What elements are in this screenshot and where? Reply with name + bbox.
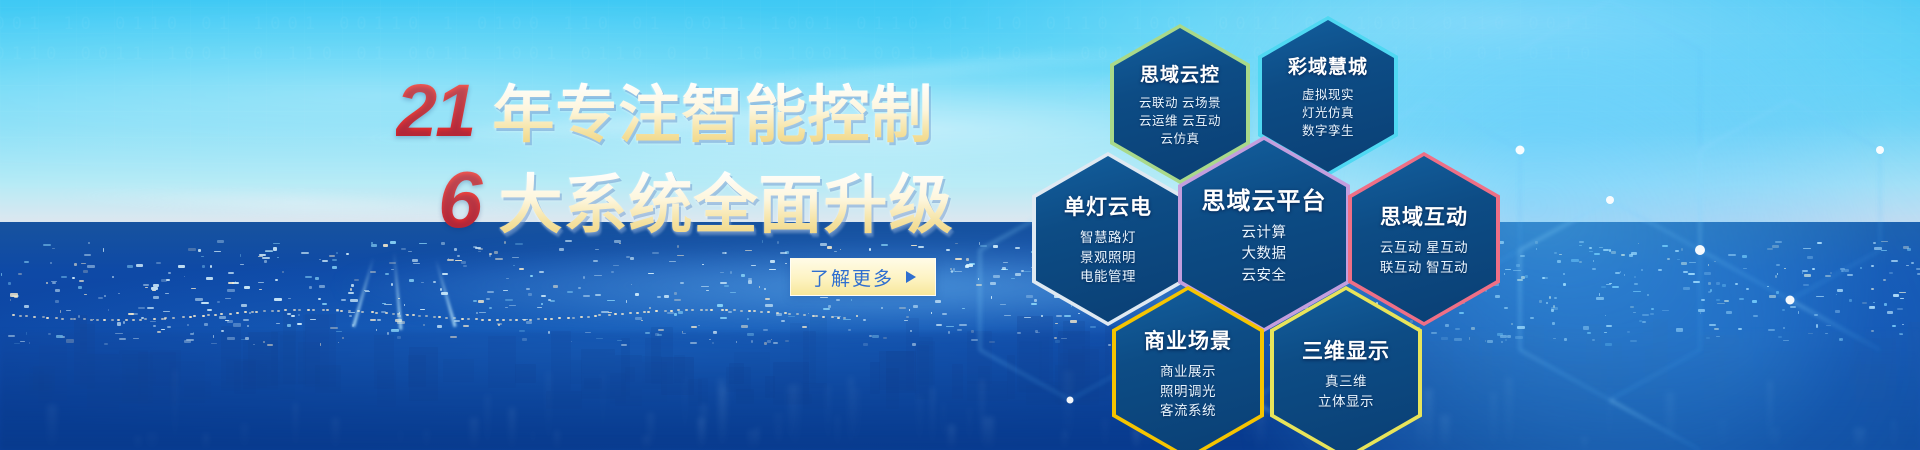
city-light: [1907, 248, 1911, 251]
city-light: [1633, 291, 1641, 292]
city-light: [1634, 283, 1637, 286]
city-light: [1579, 245, 1582, 246]
city-light: [1871, 265, 1874, 267]
city-light: [1900, 298, 1904, 299]
city-light: [1688, 273, 1695, 275]
city-light: [1742, 255, 1748, 258]
hex-line: 云计算: [1202, 223, 1327, 244]
city-light: [1735, 283, 1739, 285]
reflection-streak: [1893, 421, 1895, 450]
hex-line: 云安全: [1202, 266, 1327, 287]
hex-line: 商业展示: [1144, 362, 1232, 382]
city-light: [1593, 260, 1594, 263]
city-light: [1700, 312, 1701, 313]
city-light: [1916, 268, 1920, 270]
city-light: [1583, 326, 1588, 329]
city-light: [1883, 279, 1886, 281]
city-light: [1804, 274, 1811, 277]
city-light: [1893, 294, 1899, 297]
city-light: [1881, 250, 1887, 252]
city-light: [1609, 249, 1611, 252]
city-light: [1802, 270, 1808, 272]
hex-line: 虚拟现实: [1288, 86, 1368, 104]
city-light: [1840, 268, 1846, 270]
city-light: [1716, 282, 1720, 285]
hex-line: 智慧路灯: [1064, 228, 1152, 248]
city-light: [1902, 324, 1903, 325]
headline-line-2: 6大系统全面升级: [438, 160, 954, 240]
city-light: [1849, 299, 1852, 302]
headline-line-1: 21年专注智能控制: [396, 74, 933, 148]
city-light: [1594, 253, 1599, 255]
hex-line: 客流系统: [1144, 401, 1232, 421]
hex-title: 思域云平台: [1202, 181, 1327, 216]
promo-banner: 01001 10 0110 01 1001 00110 1 0100 110 0…: [0, 0, 1920, 450]
hex-line: 照明调光: [1144, 382, 1232, 402]
hex-line: 灯光仿真: [1288, 104, 1368, 122]
city-light: [1683, 271, 1688, 274]
city-light: [1825, 275, 1831, 277]
reflection-streak: [1607, 389, 1613, 450]
city-light: [1816, 324, 1818, 327]
city-light: [1837, 289, 1844, 292]
learn-more-label: 了解更多: [810, 264, 894, 291]
city-light: [1790, 306, 1797, 308]
city-light: [1860, 267, 1861, 269]
city-light: [1884, 303, 1887, 306]
city-light: [993, 245, 998, 247]
city-light: [1775, 275, 1776, 278]
reflection-streak: [1582, 437, 1587, 450]
headline-number-21: 21: [396, 69, 478, 152]
city-light: [1708, 264, 1710, 266]
city-light: [1869, 306, 1875, 309]
city-light: [1784, 268, 1786, 269]
hex-title: 商业场景: [1144, 325, 1232, 355]
city-light: [1563, 273, 1565, 275]
hex-line: 云运维 云互动: [1139, 112, 1221, 130]
city-light: [1769, 295, 1776, 298]
city-light: [1768, 329, 1775, 332]
city-light: [1612, 286, 1619, 288]
city-light: [1683, 287, 1690, 290]
city-light: [1714, 328, 1719, 330]
headline-number-6: 6: [438, 155, 485, 244]
city-light: [1681, 262, 1687, 265]
city-light: [1634, 276, 1635, 279]
city-light: [1807, 256, 1813, 259]
reflection-streak: [983, 417, 994, 450]
reflection-streak: [1854, 428, 1865, 450]
city-light: [1728, 254, 1735, 256]
city-light: [1606, 284, 1611, 285]
reflection-streak: [1768, 381, 1772, 450]
reflection-streak: [1666, 392, 1674, 450]
hex-line: 云联动 云场景: [1139, 94, 1221, 112]
city-light: [1708, 282, 1711, 285]
reflection-streak: [1718, 419, 1728, 450]
city-light: [1889, 272, 1894, 274]
city-light: [1698, 309, 1705, 312]
city-light: [1783, 327, 1785, 329]
city-light: [1835, 310, 1840, 313]
city-light: [1817, 242, 1822, 244]
city-light: [1606, 325, 1612, 327]
city-light: [1738, 328, 1742, 330]
city-light: [1862, 302, 1867, 304]
city-light: [1739, 298, 1744, 300]
city-light: [1752, 300, 1757, 302]
city-light: [1681, 248, 1684, 251]
city-light: [1571, 259, 1579, 262]
hex-title: 三维显示: [1302, 335, 1390, 365]
headline-block: 21年专注智能控制 6大系统全面升级 了解更多: [0, 0, 980, 450]
hex-line: 云互动 星互动: [1380, 238, 1468, 258]
city-light: [1662, 245, 1668, 247]
city-light: [1667, 258, 1670, 259]
city-light: [1803, 248, 1811, 249]
city-light: [1726, 311, 1733, 314]
city-light: [1651, 308, 1654, 310]
hexagon-single-lamp-cloud-power[interactable]: 单灯云电 智慧路灯 景观照明 电能管理: [1032, 152, 1184, 326]
city-light: [1776, 291, 1779, 294]
city-light: [1579, 241, 1584, 243]
city-light: [1677, 259, 1681, 261]
city-light: [1887, 311, 1894, 314]
hex-title: 彩域慧城: [1288, 52, 1368, 79]
hex-line: 电能管理: [1064, 267, 1152, 287]
city-light: [1709, 324, 1716, 326]
city-light: [1589, 247, 1592, 250]
city-light: [1881, 241, 1888, 242]
city-light: [1775, 241, 1782, 243]
city-light: [980, 245, 986, 247]
hex-line: 云仿真: [1139, 130, 1221, 148]
hex-title: 单灯云电: [1064, 191, 1152, 221]
city-light: [1704, 272, 1712, 275]
hex-line: 大数据: [1202, 244, 1327, 265]
city-light: [1772, 245, 1780, 248]
city-light: [1891, 260, 1898, 262]
city-light: [1743, 268, 1747, 269]
city-light: [1803, 284, 1809, 286]
headline-text-1: 年专注智能控制: [492, 81, 933, 150]
city-light: [1724, 300, 1729, 302]
city-light: [1675, 250, 1679, 252]
city-light: [1629, 254, 1633, 256]
city-light: [1814, 314, 1818, 316]
city-light: [1639, 320, 1642, 322]
headline-text-2: 大系统全面升级: [499, 169, 954, 241]
reflection-streak: [1772, 428, 1779, 450]
city-light: [1722, 284, 1726, 287]
learn-more-button[interactable]: 了解更多: [790, 258, 936, 296]
city-light: [1847, 274, 1853, 276]
city-light: [990, 282, 995, 285]
play-triangle-icon: [906, 271, 916, 283]
hex-title: 思域互动: [1380, 201, 1468, 231]
city-light: [1596, 297, 1604, 300]
hex-line: 景观照明: [1064, 248, 1152, 268]
city-light: [1693, 281, 1700, 283]
city-light: [1599, 247, 1602, 249]
hexagon-sydomain-interaction[interactable]: 思域互动 云互动 星互动 联互动 智互动: [1348, 152, 1500, 326]
hex-title: 思域云控: [1139, 60, 1221, 87]
hexagon-cluster: 思域云控 云联动 云场景 云运维 云互动 云仿真 彩域慧城 虚拟现实 灯光仿真 …: [1000, 0, 1560, 450]
hex-line: 数字孪生: [1288, 122, 1368, 140]
city-light: [1911, 262, 1914, 264]
city-light: [1746, 288, 1749, 290]
hex-line: 立体显示: [1302, 392, 1390, 412]
hex-line: 联互动 智互动: [1380, 258, 1468, 278]
city-light: [1611, 251, 1616, 254]
hex-line: 真三维: [1302, 372, 1390, 392]
city-light: [1621, 254, 1625, 256]
